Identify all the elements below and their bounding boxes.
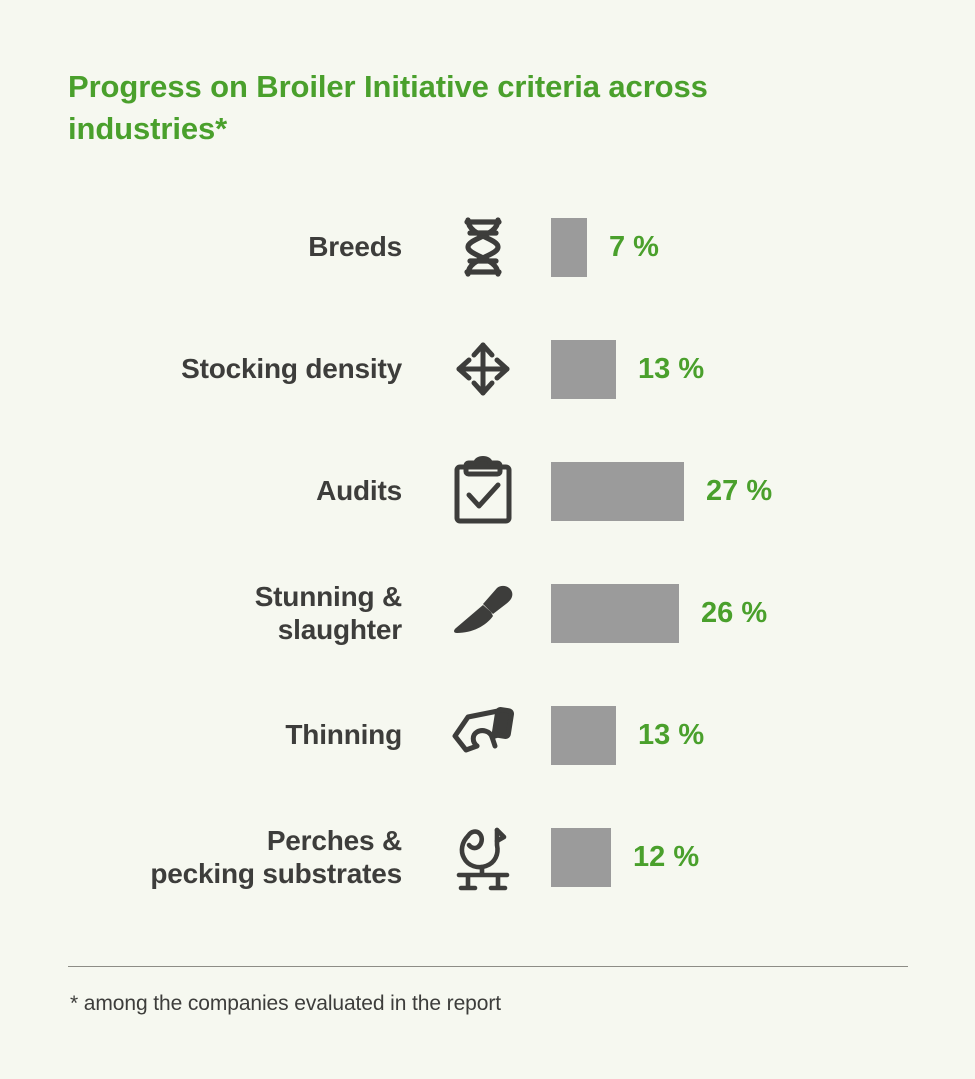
bar xyxy=(551,340,616,399)
bar-value-label: 13 % xyxy=(638,719,704,752)
bar xyxy=(551,828,611,887)
chicken-on-perch-icon xyxy=(440,796,526,918)
bar xyxy=(551,462,684,521)
bar-group: 13 % xyxy=(551,308,704,430)
footer-divider xyxy=(68,966,908,967)
row-label-thinning: Thinning xyxy=(57,674,402,796)
row-label-line: Breeds xyxy=(308,230,402,263)
row-label-line: Thinning xyxy=(285,718,402,751)
chart-row: Stunning & slaughter 26 % xyxy=(0,552,975,674)
row-label-stunning-slaughter: Stunning & slaughter xyxy=(57,552,402,674)
bar-group: 12 % xyxy=(551,796,699,918)
row-label-line: Perches & xyxy=(150,824,402,857)
row-label-stocking-density: Stocking density xyxy=(57,308,402,430)
chart-row: Breeds 7 % xyxy=(0,186,975,308)
row-label-line: Audits xyxy=(316,474,402,507)
bar-value-label: 12 % xyxy=(633,841,699,874)
chart-row: Stocking density 13 % xyxy=(0,308,975,430)
row-label-line: Stunning & xyxy=(255,580,402,613)
row-label-line: slaughter xyxy=(255,613,402,646)
bar-group: 27 % xyxy=(551,430,772,552)
bar-value-label: 27 % xyxy=(706,475,772,508)
bar-value-label: 26 % xyxy=(701,597,767,630)
row-label-breeds: Breeds xyxy=(57,186,402,308)
knife-icon xyxy=(440,552,526,674)
chart-row: Audits 27 % xyxy=(0,430,975,552)
chart-row: Perches & pecking substrates xyxy=(0,796,975,918)
bar xyxy=(551,584,679,643)
row-label-line: Stocking density xyxy=(181,352,402,385)
bar-value-label: 7 % xyxy=(609,231,659,264)
grabbing-hand-icon xyxy=(440,674,526,796)
bar-group: 26 % xyxy=(551,552,767,674)
bar xyxy=(551,218,587,277)
row-label-perches-pecking-substrates: Perches & pecking substrates xyxy=(57,796,402,918)
page-title: Progress on Broiler Initiative criteria … xyxy=(68,66,768,150)
row-label-line: pecking substrates xyxy=(150,857,402,890)
chart-row: Thinning 13 % xyxy=(0,674,975,796)
footnote-text: * among the companies evaluated in the r… xyxy=(70,992,501,1016)
dna-helix-icon xyxy=(440,186,526,308)
bar-chart: Breeds 7 % Stocking density xyxy=(0,186,975,918)
bar-value-label: 13 % xyxy=(638,353,704,386)
infographic-page: Progress on Broiler Initiative criteria … xyxy=(0,0,975,1079)
bar xyxy=(551,706,616,765)
four-way-arrows-icon xyxy=(440,308,526,430)
row-label-audits: Audits xyxy=(57,430,402,552)
bar-group: 7 % xyxy=(551,186,659,308)
bar-group: 13 % xyxy=(551,674,704,796)
clipboard-check-icon xyxy=(440,430,526,552)
